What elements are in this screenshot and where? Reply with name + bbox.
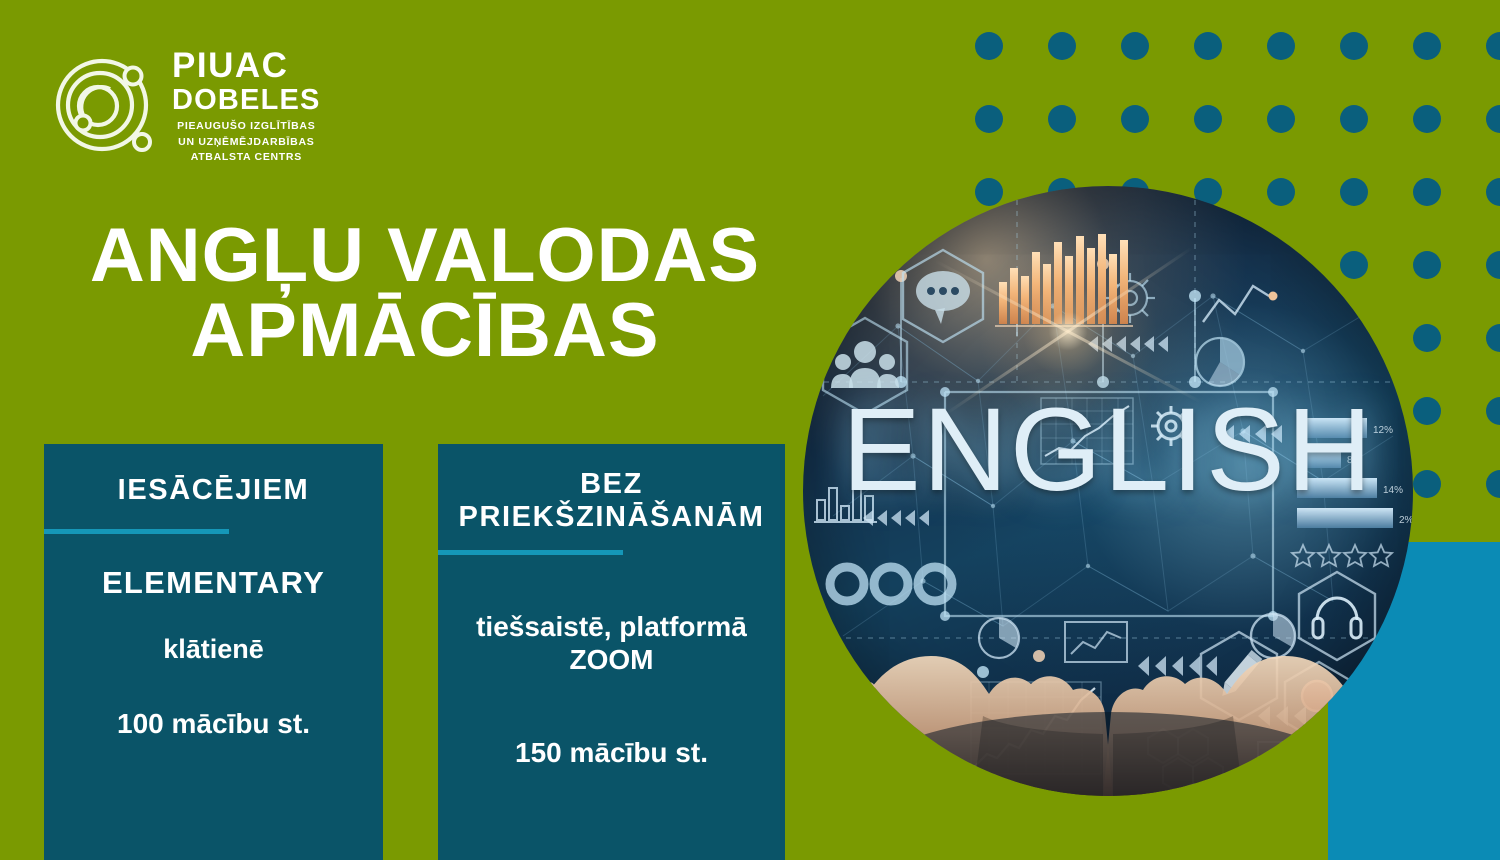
brand-logo: PIUAC DOBELES PIEAUGUŠO IZGLĪTĪBAS UN UZ… [50,44,321,165]
course-card-heading: BEZ PRIEKŠZINĀŠANĀM [438,444,785,534]
brand-tagline-line-3: ATBALSTA CENTRS [172,150,321,165]
decorative-dot [1413,178,1441,206]
decorative-dot [1121,32,1149,60]
brand-tagline: PIEAUGUŠO IZGLĪTĪBAS UN UZŅĒMĒJDARBĪBAS … [172,119,321,165]
decorative-dot [1194,105,1222,133]
decorative-dot [1121,105,1149,133]
course-card-beginner: BEZ PRIEKŠZINĀŠANĀM tiešsaistē, platform… [438,444,785,860]
course-card-elementary: IESĀCĒJIEM ELEMENTARY klātienē 100 mācīb… [44,444,383,860]
decorative-dot [1413,397,1441,425]
brand-name: PIUAC [172,48,321,83]
course-card-heading-line-2: PRIEKŠZINĀŠANĀM [438,501,785,534]
decorative-dot [1267,32,1295,60]
page-title-line-1: ANGĻU VALODAS [40,218,810,293]
card-divider [44,529,229,534]
course-card-body: tiešsaistē, platformā ZOOM 150 mācību st… [438,611,785,769]
course-hours: 150 mācību st. [452,738,771,769]
course-mode-line-1: tiešsaistē, platformā [452,611,771,643]
decorative-dot [1486,470,1500,498]
decorative-dot [1413,470,1441,498]
decorative-dot [1486,251,1500,279]
decorative-dot [1486,324,1500,352]
course-mode: klātienē [58,634,369,665]
course-mode-line-2: ZOOM [452,644,771,676]
decorative-dot [1413,32,1441,60]
hero-image-circle: 12% 8% 14% 2% [803,186,1413,796]
decorative-dot [1413,105,1441,133]
page-title: ANGĻU VALODAS APMĀCĪBAS [40,218,810,368]
page-title-line-2: APMĀCĪBAS [40,293,810,368]
decorative-dot [1486,178,1500,206]
decorative-dot [1486,32,1500,60]
card-divider [438,550,623,555]
decorative-dot [1486,397,1500,425]
brand-logo-text: PIUAC DOBELES PIEAUGUŠO IZGLĪTĪBAS UN UZ… [172,44,321,165]
decorative-dot [1413,324,1441,352]
hero-word-english: ENGLISH [803,382,1413,518]
course-level: ELEMENTARY [58,566,369,600]
brand-tagline-line-2: UN UZŅĒMĒJDARBĪBAS [172,135,321,150]
course-mode: tiešsaistē, platformā ZOOM [452,611,771,676]
decorative-dot [1340,32,1368,60]
brand-city: DOBELES [172,85,321,115]
decorative-dot [975,32,1003,60]
decorative-dot [1048,32,1076,60]
course-card-heading-line-1: BEZ [438,468,785,501]
course-card-body: ELEMENTARY klātienē 100 mācību st. [44,566,383,740]
decorative-dot [1194,32,1222,60]
course-card-heading: IESĀCĒJIEM [44,444,383,507]
decorative-dot [1048,105,1076,133]
decorative-dot [1413,251,1441,279]
course-hours: 100 mācību st. [58,709,369,740]
orbit-rings-icon [50,49,158,161]
decorative-dot [975,105,1003,133]
brand-tagline-line-1: PIEAUGUŠO IZGLĪTĪBAS [172,119,321,134]
decorative-dot [1486,105,1500,133]
poster-canvas: 12% 8% 14% 2% [0,0,1500,860]
decorative-dot [1267,105,1295,133]
decorative-dot [1340,105,1368,133]
